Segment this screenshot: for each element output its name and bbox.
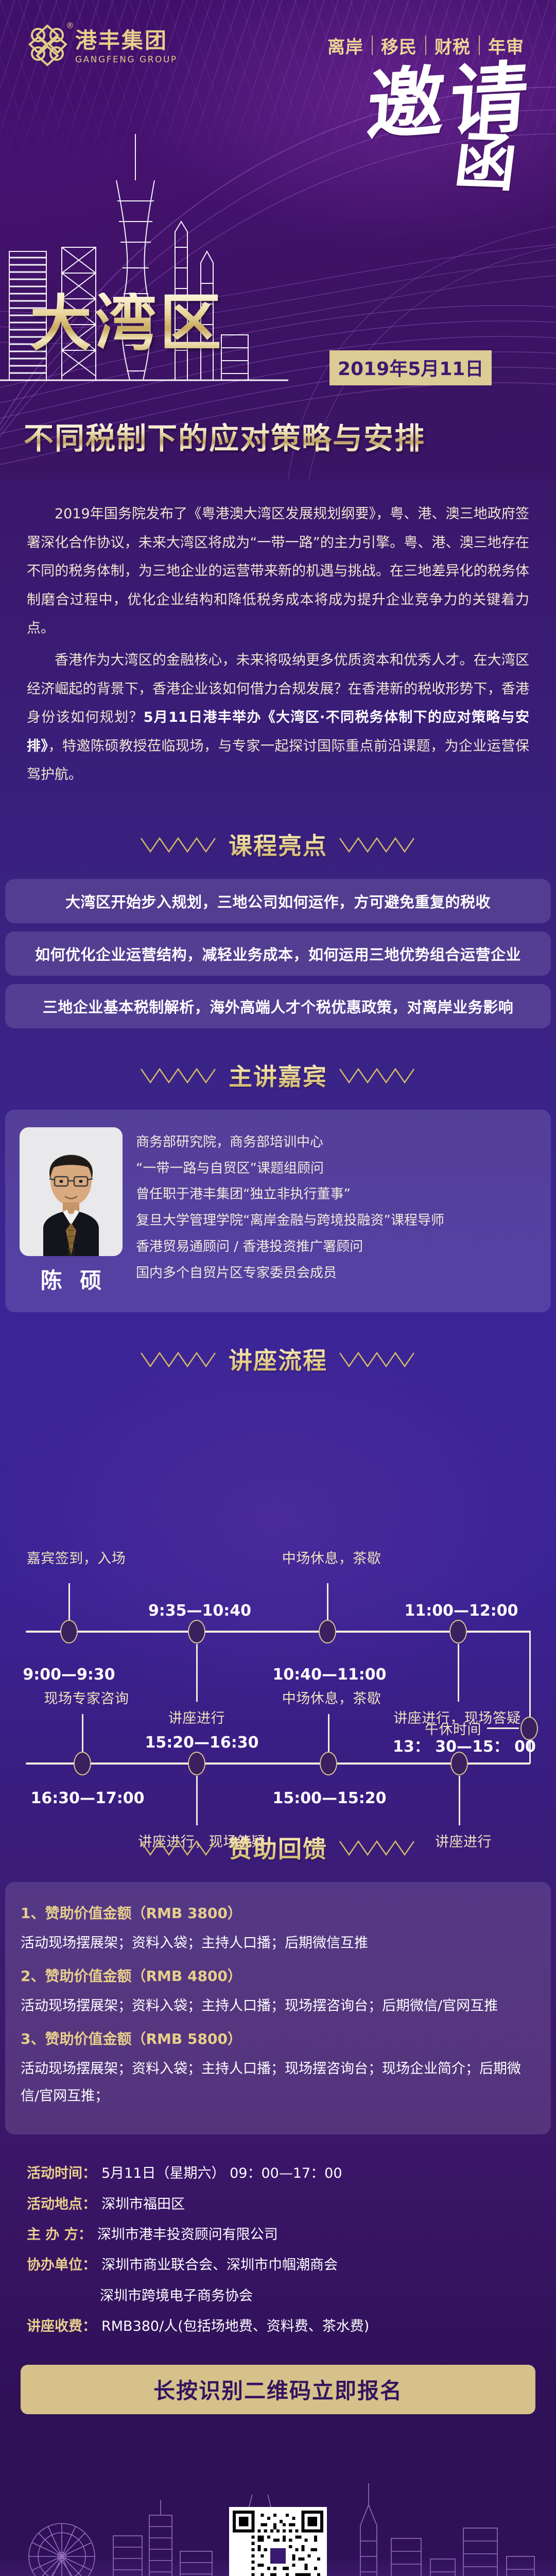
timeline-stem-3: [327, 1583, 328, 1620]
timeline-time-1100: 11:00—12:00: [405, 1602, 518, 1620]
intro-paragraphs: 2019年国务院发布了《粤港澳大湾区发展规划纲要》，粤、港、澳三地政府签署深化合…: [0, 479, 556, 798]
tagline-item-3: 年审: [480, 33, 532, 58]
timeline-lunch-connector: [487, 1727, 519, 1729]
logo-name-cn: 港丰集团: [75, 30, 178, 52]
hero-section: ® 港丰集团 GANGFENG GROUP 离岸 移民 财税 年审: [0, 0, 556, 479]
gangfeng-logo-icon: ®: [28, 24, 68, 67]
timeline-node-1: [60, 1620, 78, 1643]
company-logo[interactable]: ® 港丰集团 GANGFENG GROUP: [28, 24, 178, 67]
timeline-stem-8: [459, 1776, 460, 1825]
tagline-divider-1: [425, 36, 426, 55]
tagline-item-0: 离岸: [319, 33, 372, 58]
logo-wordmark: 港丰集团 GANGFENG GROUP: [75, 24, 178, 64]
timeline-label-lecture-1: 讲座进行: [168, 1707, 225, 1727]
section-title-speaker: 主讲嘉宾: [229, 1058, 327, 1092]
timeline-node-6: [188, 1752, 205, 1775]
brand-header: ® 港丰集团 GANGFENG GROUP 离岸 移民 财税 年审: [0, 24, 556, 67]
event-info-value-fee: RMB380/人(包括场地费、资料费、茶水费): [101, 2311, 369, 2342]
timeline-time-1040: 10:40—11:00: [273, 1666, 387, 1684]
event-date-badge: 2019年5月11日: [329, 350, 492, 385]
event-info-key-organizer: 主 办 方：: [27, 2219, 92, 2250]
timeline-stem-2: [196, 1644, 198, 1702]
timeline-time-1520: 15:20—16:30: [145, 1734, 259, 1752]
sponsor-tier-1-body: 活动现场摆展架；资料入袋；主持人口播；后期微信互推: [21, 1930, 535, 1957]
intro-paragraph-1: 2019年国务院发布了《粤港澳大湾区发展规划纲要》，粤、港、澳三地政府签署深化合…: [27, 500, 529, 643]
section-heading-highlights: 课程亮点: [0, 827, 556, 861]
timeline-stem-7: [328, 1714, 329, 1752]
event-info-key-cosponsor: 协办单位：: [27, 2250, 96, 2280]
timeline-stem-6: [196, 1776, 198, 1825]
timeline-label-break-1: 中场休息，茶歇: [282, 1547, 381, 1567]
timeline-stem-5: [82, 1714, 83, 1752]
sponsor-tier-2-title: 2、赞助价值金额（RMB 4800）: [21, 1962, 535, 1990]
event-info-value-location: 深圳市福田区: [101, 2189, 185, 2219]
page-title: 大湾区: [30, 293, 224, 354]
sponsor-tiers-box: 1、赞助价值金额（RMB 3800） 活动现场摆展架；资料入袋；主持人口播；后期…: [5, 1882, 551, 2134]
speaker-credential-3: 曾任职于港丰集团“独立非执行董事”: [136, 1181, 536, 1208]
section-title-sponsor: 赞助回馈: [229, 1831, 327, 1865]
intro-paragraph-2: 香港作为大湾区的金融核心，未来将吸纳更多优质资本和优秀人才。在大湾区经济崛起的背…: [27, 646, 529, 789]
tagline-divider-0: [372, 36, 373, 55]
timeline-label-signin: 嘉宾签到，入场: [27, 1547, 126, 1567]
event-info-value-time: 5月11日（星期六） 09：00—17：00: [101, 2158, 342, 2189]
sponsor-tier-3-title: 3、赞助价值金额（RMB 5800）: [21, 2025, 535, 2053]
section-title-highlights: 课程亮点: [229, 827, 327, 861]
timeline-node-3: [319, 1620, 336, 1643]
zigzag-right-icon: [339, 1064, 416, 1087]
zigzag-left-icon: [140, 1348, 217, 1370]
speaker-credential-4: 复旦大学管理学院“离岸金融与跨境投融资”课程导师: [136, 1208, 536, 1234]
timeline-time-1500: 15:00—15:20: [273, 1789, 387, 1807]
speaker-credential-6: 国内多个自贸片区专家委员会成员: [136, 1260, 536, 1286]
speaker-credential-5: 香港贸易通顾问 / 香港投资推广署顾问: [136, 1234, 536, 1260]
timeline-node-5: [74, 1752, 91, 1775]
timeline-time-1630: 16:30—17:00: [31, 1789, 145, 1807]
timeline-label-expert-consult: 现场专家咨询: [44, 1687, 129, 1707]
intro-p2-part-b: ，特邀陈硕教授莅临现场，与专家一起探讨国际重点前沿课题，为企业运营保驾护航。: [27, 738, 529, 783]
highlight-item-3: 三地企业基本税制解析，海外高端人才个税优惠政策，对离岸业务影响: [5, 984, 551, 1028]
event-info-row-time: 活动时间： 5月11日（星期六） 09：00—17：00: [27, 2158, 529, 2189]
timeline-stem-4: [458, 1644, 459, 1702]
tagline-item-2: 财税: [426, 33, 479, 58]
speaker-credentials: 商务部研究院，商务部培训中心 “一带一路与自贸区”课题组顾问 曾任职于港丰集团“…: [136, 1127, 536, 1295]
zigzag-right-icon: [339, 833, 416, 856]
highlight-item-1: 大湾区开始步入规划，三地公司如何运作，方可避免重复的税收: [5, 879, 551, 923]
speaker-credential-2: “一带一路与自贸区”课题组顾问: [136, 1156, 536, 1182]
zigzag-left-icon: [140, 833, 217, 856]
section-heading-sponsor: 赞助回馈: [0, 1831, 556, 1865]
timeline-node-8: [450, 1752, 468, 1775]
speaker-portrait: [20, 1127, 123, 1256]
avatar: [20, 1127, 123, 1256]
section-heading-speaker: 主讲嘉宾: [0, 1058, 556, 1092]
register-cta-button[interactable]: 长按识别二维码立即报名: [21, 2365, 535, 2414]
speaker-card: 陈 硕 商务部研究院，商务部培训中心 “一带一路与自贸区”课题组顾问 曾任职于港…: [5, 1110, 551, 1312]
zigzag-right-icon: [339, 1348, 416, 1370]
event-info-block: 活动时间： 5月11日（星期六） 09：00—17：00 活动地点： 深圳市福田…: [0, 2134, 556, 2342]
speaker-name: 陈 硕: [20, 1263, 123, 1295]
timeline-node-lunch: [520, 1717, 538, 1740]
calligraphy-line-2: 函: [364, 131, 520, 192]
event-info-key-fee: 讲座收费：: [27, 2311, 96, 2342]
section-title-schedule: 讲座流程: [229, 1342, 327, 1376]
event-info-row-organizer: 主 办 方： 深圳市港丰投资顾问有限公司: [27, 2219, 529, 2250]
timeline-node-4: [449, 1620, 467, 1643]
tagline-divider-2: [479, 36, 480, 55]
sponsor-tier-3-body: 活动现场摆展架；资料入袋；主持人口播；现场摆咨询台；现场企业简介；后期微信/官网…: [21, 2056, 535, 2110]
sponsor-tier-1-title: 1、赞助价值金额（RMB 3800）: [21, 1900, 535, 1927]
highlight-item-2: 如何优化企业运营结构，减轻业务成本，如何运用三地优势组合运营企业: [5, 931, 551, 976]
event-info-key-location: 活动地点：: [27, 2189, 96, 2219]
registered-mark: ®: [66, 22, 74, 30]
timeline-time-0900: 9:00—9:30: [23, 1666, 115, 1684]
poster-page: ® 港丰集团 GANGFENG GROUP 离岸 移民 财税 年审: [0, 0, 556, 2576]
zigzag-right-icon: [339, 1836, 416, 1859]
event-info-value-cosponsor: 深圳市商业联合会、深圳市巾帼潮商会: [101, 2250, 338, 2280]
speaker-credential-1: 商务部研究院，商务部培训中心: [136, 1129, 536, 1156]
timeline-label-break-2: 中场休息，茶歇: [282, 1687, 381, 1707]
event-info-value-organizer: 深圳市港丰投资顾问有限公司: [97, 2219, 278, 2250]
event-info-key-time: 活动时间：: [27, 2158, 96, 2189]
calligraphy-invitation: 邀请 函: [368, 67, 532, 189]
timeline-time-1330: 13： 30—15： 00: [393, 1734, 536, 1756]
logo-name-en: GANGFENG GROUP: [75, 56, 178, 64]
zigzag-left-icon: [140, 1836, 217, 1859]
highlights-list: 大湾区开始步入规划，三地公司如何运作，方可避免重复的税收 如何优化企业运营结构，…: [0, 879, 556, 1028]
sponsor-tier-2-body: 活动现场摆展架；资料入袋；主持人口播；现场摆咨询台；后期微信/官网互推: [21, 1993, 535, 2020]
event-info-row-location: 活动地点： 深圳市福田区: [27, 2189, 529, 2219]
page-subtitle: 不同税制下的应对策略与安排: [24, 422, 425, 455]
speaker-left-column: 陈 硕: [20, 1127, 123, 1295]
event-info-row-fee: 讲座收费： RMB380/人(包括场地费、资料费、茶水费): [27, 2311, 529, 2342]
timeline-node-7: [320, 1752, 337, 1775]
event-info-row-cosponsor: 协办单位： 深圳市商业联合会、深圳市巾帼潮商会: [27, 2250, 529, 2280]
event-info-cosponsor-line2: 深圳市跨境电子商务协会: [27, 2281, 529, 2311]
tagline-item-1: 移民: [373, 33, 425, 58]
timeline-node-2: [188, 1620, 205, 1643]
zigzag-left-icon: [140, 1064, 217, 1087]
timeline-time-0935: 9:35—10:40: [148, 1602, 251, 1620]
section-heading-schedule: 讲座流程: [0, 1342, 556, 1376]
timeline-stem-1: [68, 1583, 70, 1620]
footer-section: [0, 2428, 556, 2576]
schedule-timeline: 嘉宾签到，入场 9:00—9:30 9:35—10:40 讲座进行 中场休息，茶…: [0, 1394, 556, 1801]
qr-code-icon: [233, 2511, 323, 2576]
service-tagline: 离岸 移民 财税 年审: [319, 33, 532, 58]
qr-code[interactable]: [229, 2507, 327, 2576]
